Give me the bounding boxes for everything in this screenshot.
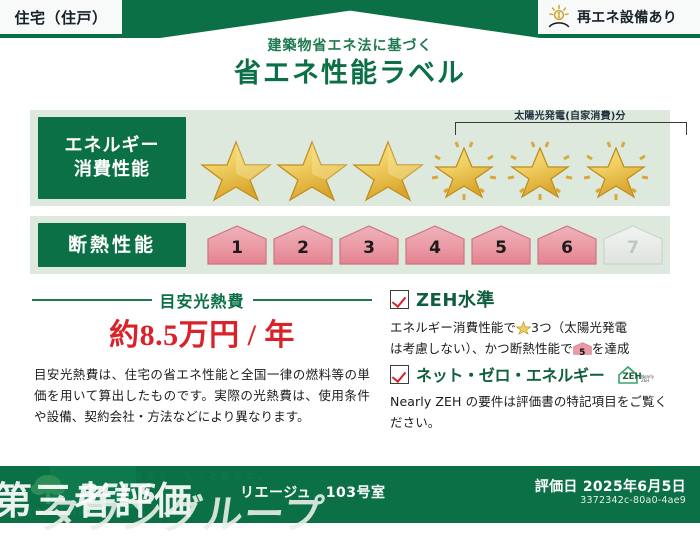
zeh-standard-checkbox-icon: [390, 290, 409, 309]
energy-category-box: エネルギー 消費性能: [38, 117, 186, 199]
insulation-house-inline-icon: 5: [573, 341, 592, 356]
title-main: 省エネ性能ラベル: [0, 57, 700, 91]
zeh-body-star-count: 3つ（太陽光発電: [531, 320, 627, 335]
net-zero-energy-block: ネット・ゼロ・エネルギー ZEH Nearly ZEH Nearly ZEH の…: [390, 362, 672, 433]
zeh-standard-block: ZEH水準 エネルギー消費性能で 3つ（太陽光発電 は考慮しない）、かつ断熱性能…: [390, 286, 672, 359]
insulation-level-scale: 1 2 3 4: [206, 224, 664, 266]
zeh-badge-icon: ZEH Nearly ZEH: [613, 362, 661, 386]
insulation-level-5: 5: [470, 224, 532, 266]
insulation-level-2: 2: [272, 224, 334, 266]
insulation-level-4-number: 4: [404, 238, 466, 258]
zeh-standard-title-row: ZEH水準: [390, 286, 672, 312]
label-title-block: 建築物省エネ法に基づく 省エネ性能ラベル: [0, 36, 700, 91]
insulation-level-1-number: 1: [206, 238, 268, 258]
header-notch: [160, 0, 540, 38]
insulation-level-1: 1: [206, 224, 268, 266]
insulation-level-7-number: 7: [602, 238, 664, 258]
insulation-category-box: 断熱性能: [38, 223, 186, 267]
solar-bracket-label: 太陽光発電(自家消費)分: [455, 107, 685, 122]
gold-star-icon: [200, 134, 272, 202]
renewable-energy-label: 再エネ設備あり: [577, 7, 677, 27]
insulation-house-inline-number: 5: [573, 343, 592, 364]
utility-cost-heading: 目安光熱費: [32, 288, 372, 312]
gold-star-icon: [276, 134, 348, 202]
insulation-level-3: 3: [338, 224, 400, 266]
net-zero-body: Nearly ZEH の要件は評価書の特記項目をご覧ください。: [390, 391, 672, 433]
evaluation-id: 3372342c-80a0-4ae9: [580, 495, 686, 506]
sun-renewable-icon: [546, 4, 572, 30]
energy-category-line2: 消費性能: [74, 158, 150, 182]
net-zero-checkbox-icon: [390, 365, 409, 384]
insulation-level-4: 4: [404, 224, 466, 266]
zeh-body-text-c: を達成: [592, 341, 630, 356]
energy-category-line1: エネルギー: [65, 134, 160, 158]
zeh-standard-title: ZEH水準: [416, 286, 495, 312]
gold-star-dashed-icon: [580, 134, 652, 202]
svg-text:ZEH: ZEH: [623, 372, 642, 382]
cost-heading-label: 目安光熱費: [160, 288, 245, 312]
gold-star-dashed-icon: [504, 134, 576, 202]
building-type-chip: 住宅（住戸）: [0, 0, 122, 34]
energy-consumption-panel: エネルギー 消費性能 太陽光発電(自家消費)分: [30, 110, 670, 206]
insulation-level-7: 7: [602, 224, 664, 266]
insulation-level-5-number: 5: [470, 238, 532, 258]
zeh-standard-body: エネルギー消費性能で 3つ（太陽光発電 は考慮しない）、かつ断熱性能で 5 を達…: [390, 317, 672, 359]
utility-cost-note: 目安光熱費は、住宅の省エネ性能と全国一律の燃料等の単価を用いて算出したものです。…: [34, 364, 370, 427]
net-zero-title-row: ネット・ゼロ・エネルギー ZEH Nearly ZEH: [390, 362, 672, 386]
gold-star-inline-icon: [516, 320, 531, 335]
renewable-energy-chip: 再エネ設備あり: [538, 0, 700, 34]
cost-rule-left: [32, 299, 152, 301]
energy-performance-label: 住宅（住戸） 再エネ設備あり 建築物省エネ法に基づく 省エネ性能ラベル: [0, 0, 700, 523]
insulation-level-6: 6: [536, 224, 598, 266]
zeh-body-text-b: は考慮しない）、かつ断熱性能で: [390, 341, 573, 356]
energy-star-rating: [200, 134, 652, 202]
net-zero-title: ネット・ゼロ・エネルギー: [416, 362, 604, 386]
insulation-category-label: 断熱性能: [68, 233, 156, 257]
insulation-performance-panel: 断熱性能 1: [30, 216, 670, 274]
insulation-level-3-number: 3: [338, 238, 400, 258]
svg-text:ZEH: ZEH: [641, 378, 649, 383]
insulation-level-2-number: 2: [272, 238, 334, 258]
town-group-watermark-text: タウングループ: [36, 482, 503, 534]
title-subtitle: 建築物省エネ法に基づく: [0, 36, 700, 56]
building-type-label: 住宅（住戸）: [14, 7, 107, 28]
insulation-level-6-number: 6: [536, 238, 598, 258]
cost-rule-right: [253, 299, 373, 301]
gold-star-icon: [352, 134, 424, 202]
utility-cost-value: 約8.5万円 / 年: [32, 310, 372, 354]
zeh-body-text-a: エネルギー消費性能で: [390, 320, 516, 335]
gold-star-dashed-icon: [428, 134, 500, 202]
evaluation-date: 評価日 2025年6月5日: [535, 476, 686, 496]
